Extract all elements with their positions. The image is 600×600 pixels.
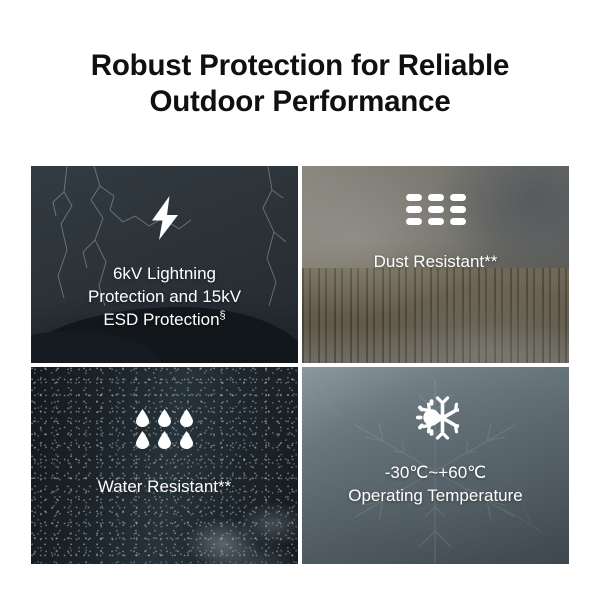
dust-pill: [450, 194, 466, 201]
lightning-label-line-3: ESD Protection: [103, 310, 219, 329]
water-droplets-glyph: [135, 409, 194, 449]
feature-card-lightning-protection[interactable]: 6kV LightningProtection and 15kVESD Prot…: [31, 166, 298, 363]
footnote-marker-section: §: [220, 309, 226, 321]
water-drop: [135, 431, 150, 449]
feature-label-lightning: 6kV LightningProtection and 15kVESD Prot…: [88, 262, 241, 331]
dust-pill: [428, 206, 444, 213]
water-drop: [157, 409, 172, 427]
temperature-label-line-1: -30℃~+60℃: [385, 463, 487, 482]
temperature-label-line-2: Operating Temperature: [348, 486, 523, 505]
lightning-label-line-1: 6kV Lightning: [113, 264, 216, 283]
feature-label-temperature: -30℃~+60℃Operating Temperature: [348, 461, 523, 507]
page-title: Robust Protection for Reliable Outdoor P…: [0, 48, 600, 120]
water-drop: [179, 431, 194, 449]
water-drop: [157, 431, 172, 449]
lightning-bolt-icon: [148, 196, 182, 240]
lightning-label-line-2: Protection and 15kV: [88, 287, 241, 306]
wet-rock-texture: [186, 490, 298, 564]
dust-pill: [406, 194, 422, 201]
water-drop: [135, 409, 150, 427]
feature-grid: 6kV LightningProtection and 15kVESD Prot…: [31, 166, 569, 565]
lightning-bolt-glyph: [148, 196, 182, 240]
sun-snowflake-glyph: [413, 395, 459, 441]
feature-card-dust-resistant[interactable]: Dust Resistant**: [302, 166, 569, 363]
dust-pill: [428, 218, 444, 225]
dust-grid-icon: [406, 194, 466, 225]
water-droplets-icon: [135, 409, 194, 449]
feature-card-water-resistant[interactable]: Water Resistant**: [31, 367, 298, 564]
water-drop: [179, 409, 194, 427]
feature-label-water: Water Resistant**: [98, 475, 232, 498]
feature-label-dust: Dust Resistant**: [374, 250, 498, 273]
product-feature-panel: Robust Protection for Reliable Outdoor P…: [0, 0, 600, 600]
dust-grid-glyph: [406, 194, 466, 225]
dust-pill: [406, 206, 422, 213]
dust-pill: [450, 218, 466, 225]
dust-pill: [428, 194, 444, 201]
feature-card-operating-temperature[interactable]: -30℃~+60℃Operating Temperature: [302, 367, 569, 564]
dust-pill: [406, 218, 422, 225]
dust-pill: [450, 206, 466, 213]
sun-snowflake-icon: [413, 395, 459, 441]
